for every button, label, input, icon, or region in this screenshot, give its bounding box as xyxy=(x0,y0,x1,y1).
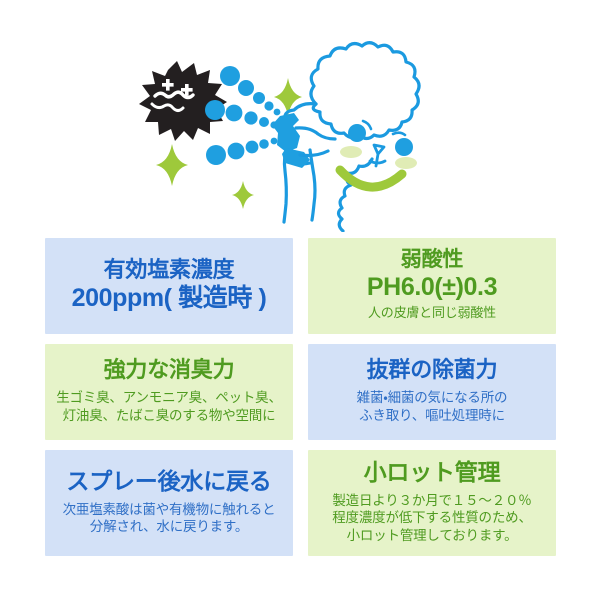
product-feature-infographic: 有効塩素濃度 200ppm( 製造時 ) 弱酸性 PH6.0(±)0.3 人の皮… xyxy=(0,0,600,600)
feature-card-returns-to-water-after-spray: スプレー後水に戻る 次亜塩素酸は菌や有機物に触れると 分解され、水に戻ります。 xyxy=(45,450,293,556)
feature-note: 次亜塩素酸は菌や有機物に触れると 分解され、水に戻ります。 xyxy=(63,501,276,537)
feature-note: 人の皮膚と同じ弱酸性 xyxy=(368,304,496,321)
spray-dots xyxy=(205,66,280,165)
feature-title: 抜群の除菌力 xyxy=(367,357,498,383)
feature-note: 生ゴミ臭、アンモニア臭、ペット臭、 灯油臭、たばこ臭のする物や空間に xyxy=(56,389,282,425)
feature-card-outstanding-sterilizing-power: 抜群の除菌力 雑菌・細菌の気になる所の ふき取り、嘔吐処理時に xyxy=(308,344,556,440)
feature-card-effective-chlorine-concentration: 有効塩素濃度 200ppm( 製造時 ) xyxy=(45,238,293,334)
feature-title: 小ロット管理 xyxy=(364,459,501,486)
feature-card-strong-deodorizing-power: 強力な消臭力 生ゴミ臭、アンモニア臭、ペット臭、 灯油臭、たばこ臭のする物や空間… xyxy=(45,344,293,440)
feature-title: 弱酸性 xyxy=(401,248,463,272)
feature-subtitle: PH6.0(±)0.3 xyxy=(367,273,497,302)
feature-title: 有効塩素濃度 xyxy=(104,257,235,283)
feature-card-grid: 有効塩素濃度 200ppm( 製造時 ) 弱酸性 PH6.0(±)0.3 人の皮… xyxy=(45,238,556,556)
feature-subtitle: 200ppm( 製造時 ) xyxy=(72,284,267,313)
feature-note: 雑菌・細菌の気になる所の ふき取り、嘔吐処理時に xyxy=(357,389,508,425)
hero-illustration xyxy=(0,0,600,232)
feature-note: 製造日より３か月で１５〜２０％ 程度濃度が低下する性質のため、 小ロット管理して… xyxy=(332,492,532,545)
feature-card-small-lot-management: 小ロット管理 製造日より３か月で１５〜２０％ 程度濃度が低下する性質のため、 小… xyxy=(308,450,556,556)
feature-card-weak-acidity: 弱酸性 PH6.0(±)0.3 人の皮膚と同じ弱酸性 xyxy=(308,238,556,334)
feature-title: 強力な消臭力 xyxy=(104,357,235,383)
poodle-face xyxy=(340,121,417,187)
feature-title: スプレー後水に戻る xyxy=(66,468,271,495)
